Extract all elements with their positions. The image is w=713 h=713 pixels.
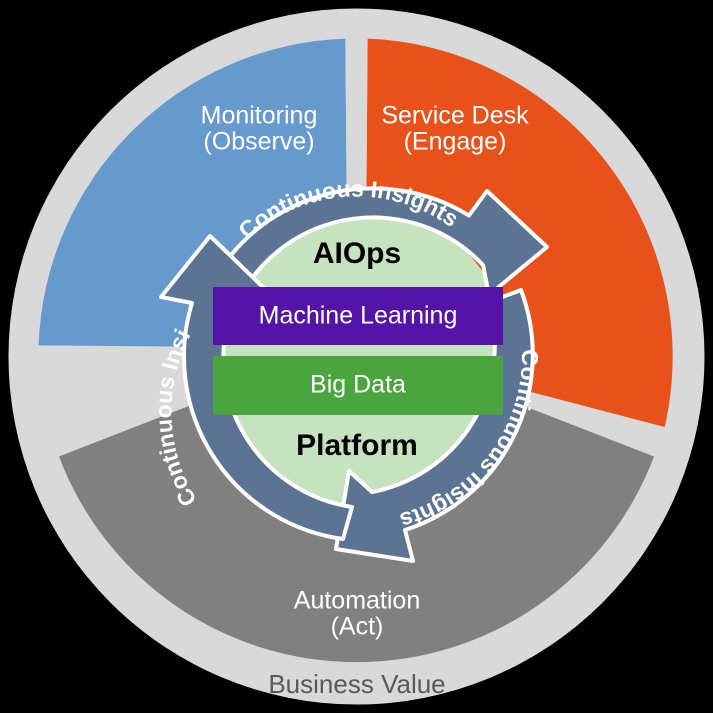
business-value-label: Business Value xyxy=(268,669,445,699)
segment-monitoring-label: Monitoring (Observe) xyxy=(201,102,318,156)
automation-name: Automation xyxy=(294,587,420,615)
core-bottom-title: Platform xyxy=(296,429,418,462)
bar-big-data-label: Big Data xyxy=(310,371,406,399)
monitoring-sub: (Observe) xyxy=(203,128,314,156)
service-desk-sub: (Engage) xyxy=(404,128,507,156)
aiops-cycle-svg: Monitoring (Observe) Service Desk (Engag… xyxy=(0,0,713,713)
automation-sub: (Act) xyxy=(331,613,384,641)
bar-machine-learning-label: Machine Learning xyxy=(259,302,458,330)
aiops-diagram: Monitoring (Observe) Service Desk (Engag… xyxy=(0,0,713,713)
monitoring-name: Monitoring xyxy=(201,102,318,130)
core-top-title: AIOps xyxy=(313,237,401,270)
service-desk-name: Service Desk xyxy=(381,102,529,130)
